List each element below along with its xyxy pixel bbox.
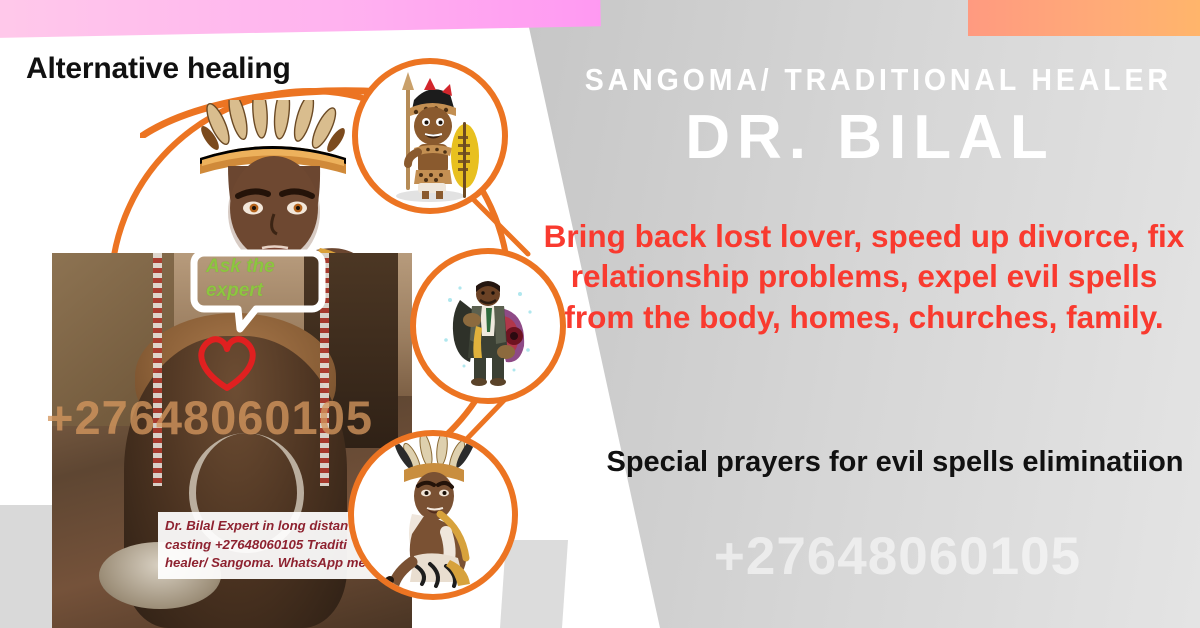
bottom-center-gray-block bbox=[500, 540, 568, 628]
orange-gradient-bar bbox=[968, 0, 1200, 36]
bottom-left-gray-block bbox=[0, 505, 52, 628]
page-title: Alternative healing bbox=[26, 52, 291, 86]
speech-bubble-text: Ask the expert bbox=[206, 255, 316, 304]
brand-name: DR. BILAL bbox=[560, 102, 1180, 173]
special-offer-text: Special prayers for evil spells eliminat… bbox=[600, 443, 1190, 481]
photo-phone-watermark: +27648060105 bbox=[46, 390, 373, 445]
kicker-text: SANGOMA/ TRADITIONAL HEALER bbox=[585, 62, 1155, 98]
heart-icon bbox=[194, 333, 260, 393]
phone-watermark: +27648060105 bbox=[600, 526, 1195, 587]
circle-photo-crouching-warrior bbox=[348, 430, 518, 600]
poster-canvas: Alternative healing bbox=[0, 0, 1200, 628]
circle-photo-zulu-warrior bbox=[352, 58, 508, 214]
services-text: Bring back lost lover, speed up divorce,… bbox=[540, 216, 1188, 337]
pink-gradient-bar bbox=[0, 0, 601, 38]
